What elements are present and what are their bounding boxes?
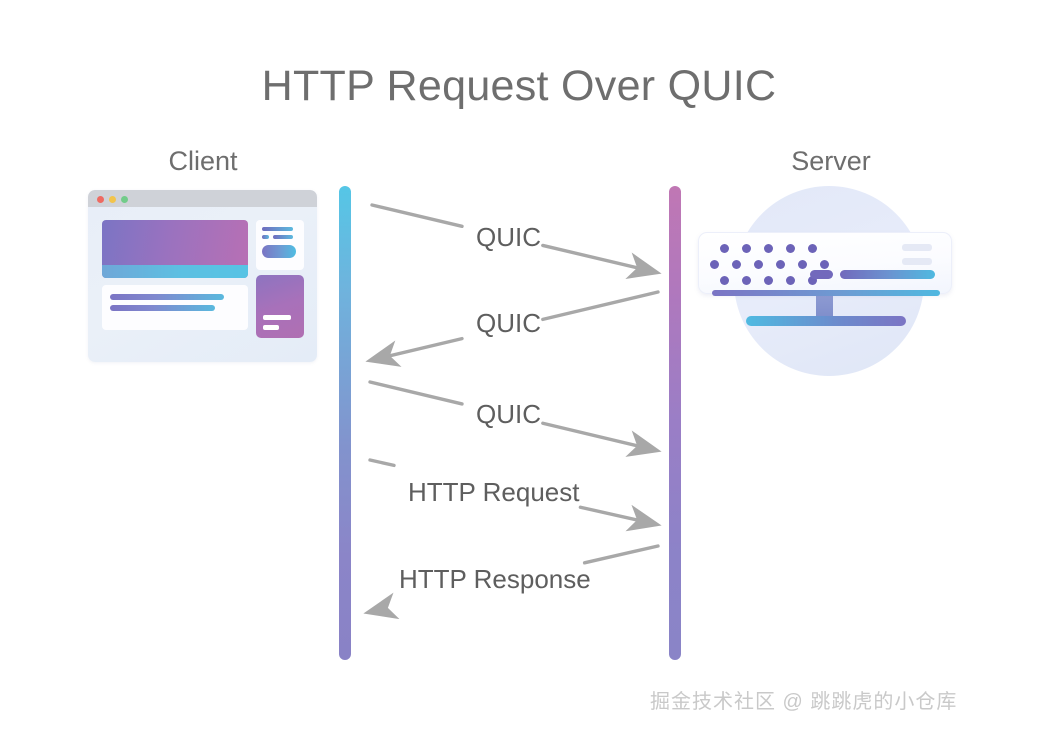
- message-arrow-1-segment-1: [372, 205, 462, 226]
- message-label-5: HTTP Response: [399, 564, 591, 595]
- message-label-2: QUIC: [476, 308, 541, 339]
- message-label-1: QUIC: [476, 222, 541, 253]
- message-arrow-4-segment-2: [580, 507, 655, 524]
- message-arrow-3-segment-1: [370, 382, 462, 404]
- message-arrow-5-segment-2: [370, 609, 385, 612]
- message-arrow-1-segment-2: [543, 245, 655, 272]
- message-arrow-2-segment-2: [372, 339, 462, 360]
- message-arrow-5-segment-1: [585, 546, 658, 563]
- message-arrows-layer: [0, 0, 1038, 744]
- message-arrow-2-segment-1: [543, 292, 658, 319]
- message-label-4: HTTP Request: [408, 477, 579, 508]
- message-label-3: QUIC: [476, 399, 541, 430]
- watermark-text: 掘金技术社区 @ 跳跳虎的小仓库: [650, 685, 957, 714]
- message-arrow-3-segment-2: [543, 423, 655, 450]
- message-arrow-4-segment-1: [370, 460, 394, 465]
